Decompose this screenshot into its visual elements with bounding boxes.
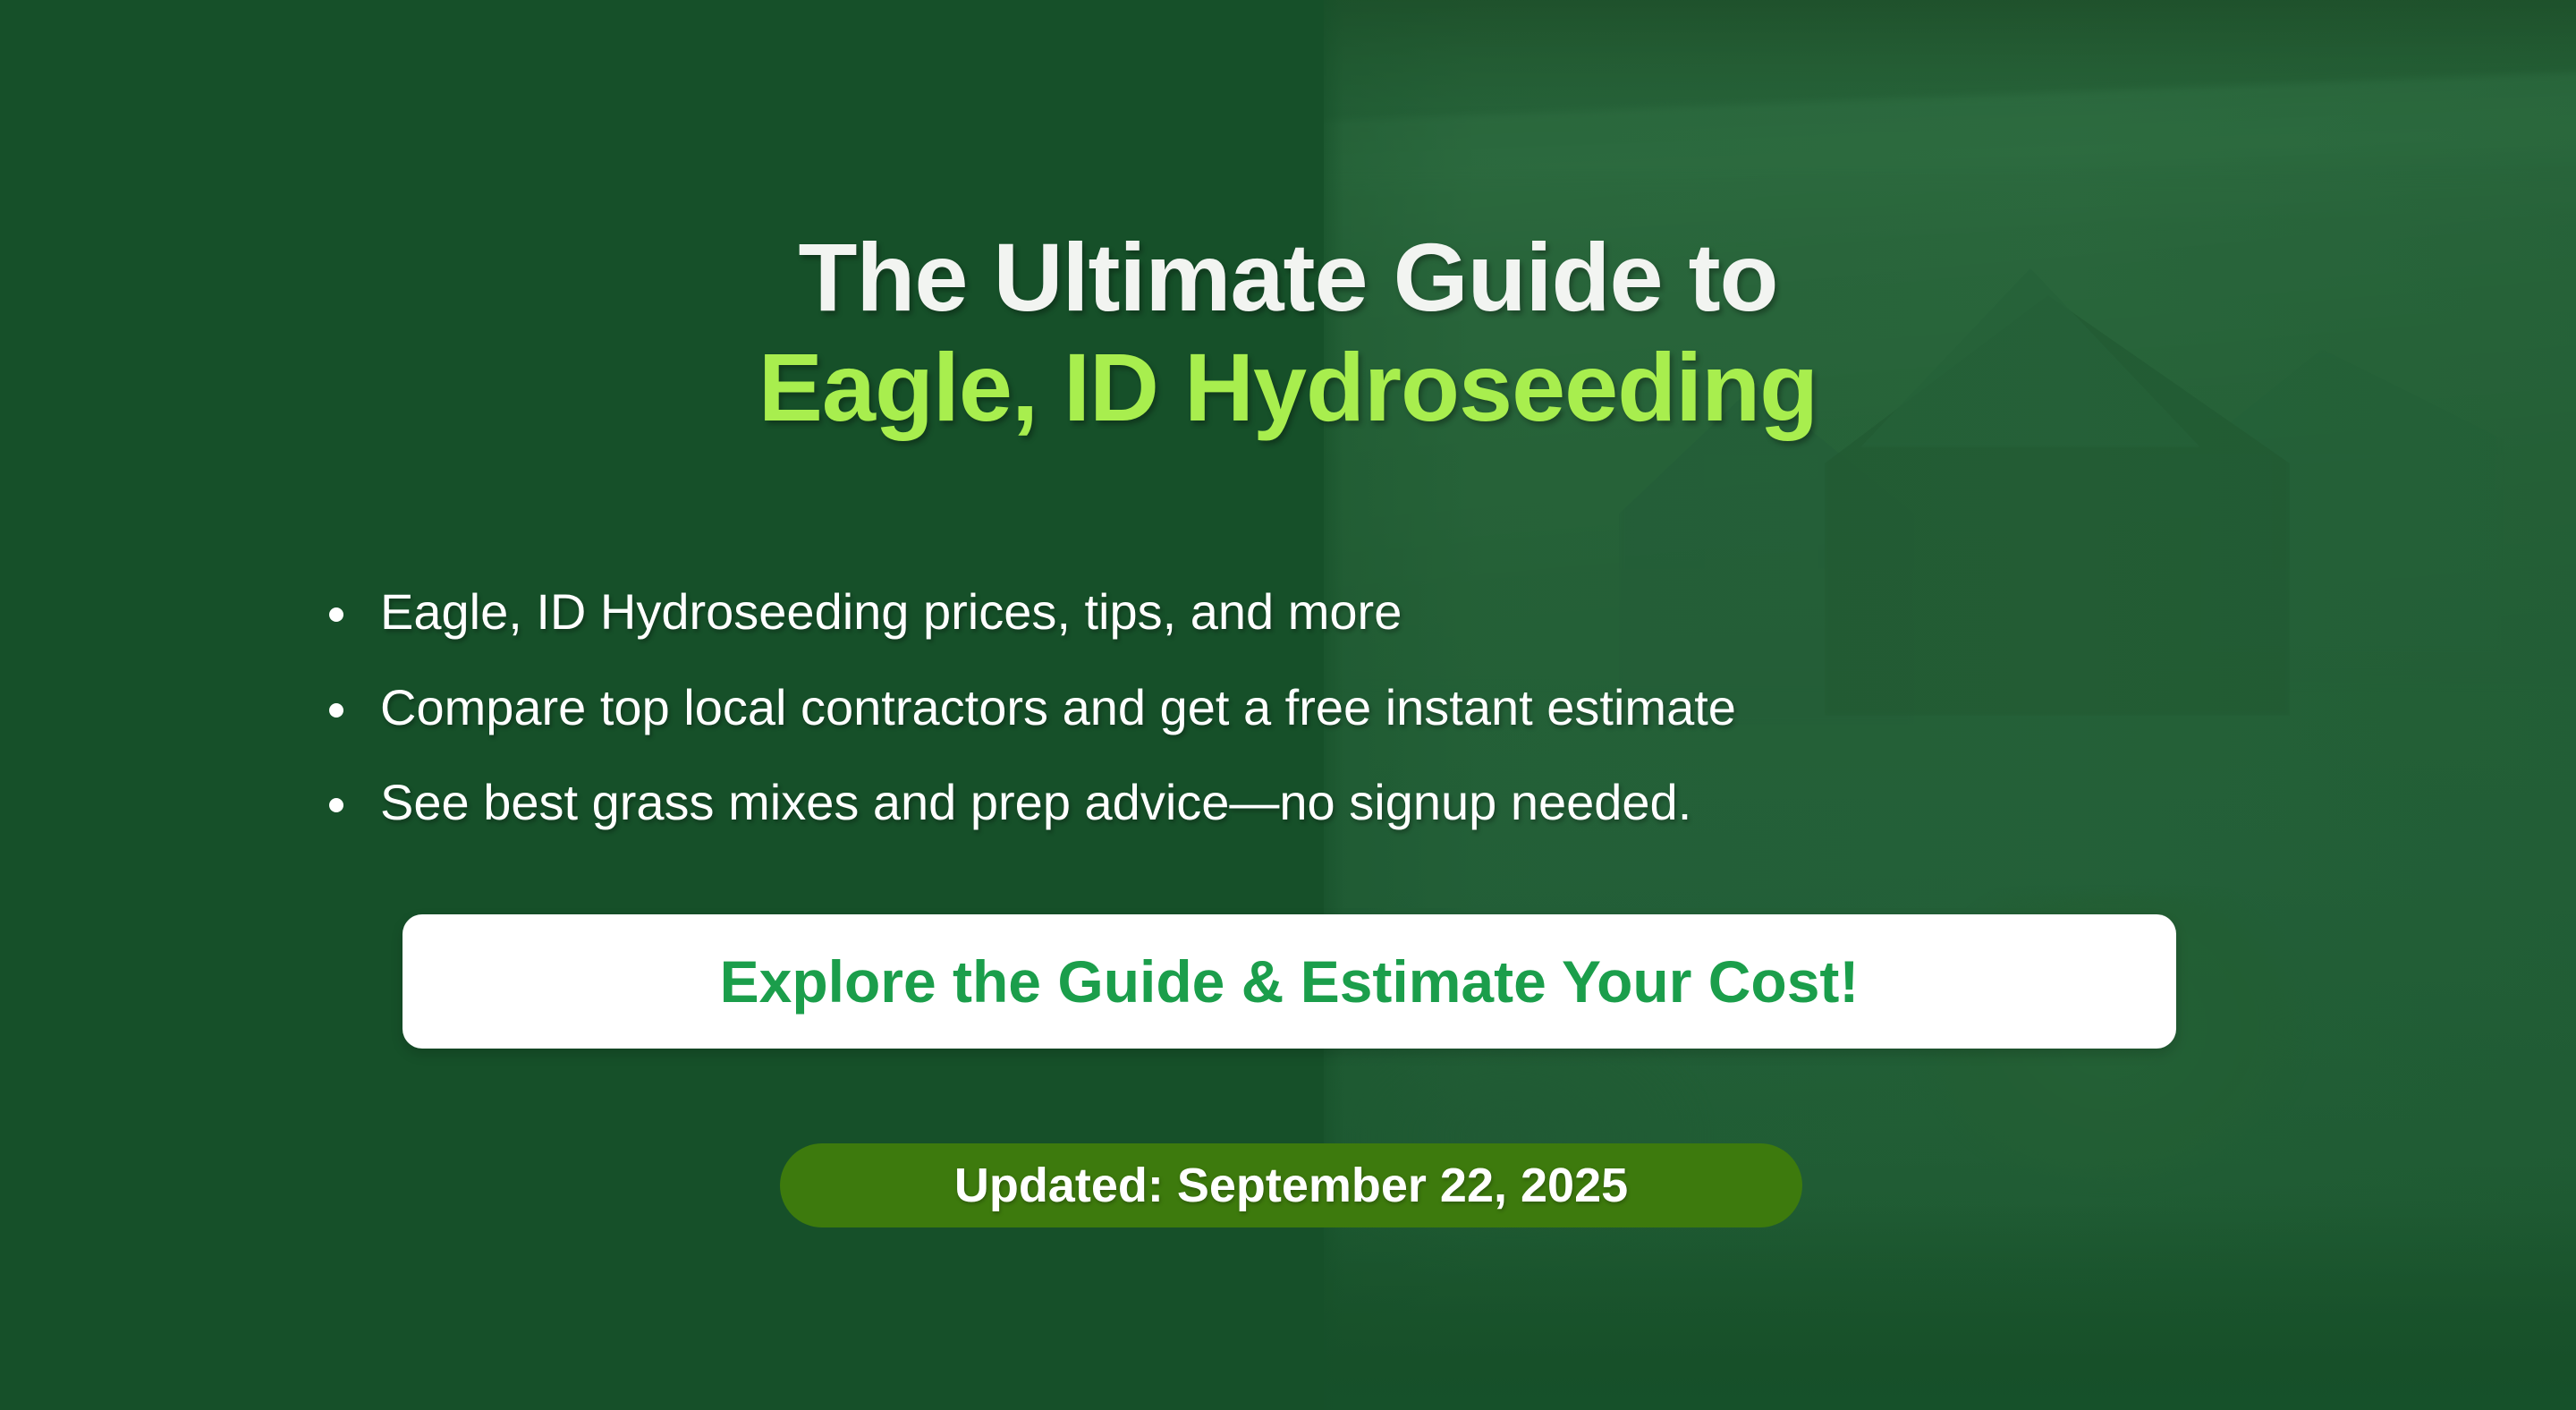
page-title-line-1: The Ultimate Guide to [0, 222, 2576, 332]
updated-date-badge: Updated: September 22, 2025 [780, 1143, 1802, 1227]
list-item: Compare top local contractors and get a … [329, 682, 2297, 735]
page-title: The Ultimate Guide to Eagle, ID Hydrosee… [0, 222, 2576, 442]
feature-bullet-list: Eagle, ID Hydroseeding prices, tips, and… [329, 586, 2297, 872]
list-item-label: See best grass mixes and prep advice—no … [380, 774, 1691, 830]
page-title-line-2: Eagle, ID Hydroseeding [0, 332, 2576, 442]
bullet-dot-icon [329, 703, 343, 718]
list-item: See best grass mixes and prep advice—no … [329, 777, 2297, 829]
hero-banner: The Ultimate Guide to Eagle, ID Hydrosee… [0, 0, 2576, 1410]
banner-content: The Ultimate Guide to Eagle, ID Hydrosee… [0, 0, 2576, 1410]
list-item-label: Eagle, ID Hydroseeding prices, tips, and… [380, 583, 1402, 640]
bullet-dot-icon [329, 798, 343, 812]
bullet-dot-icon [329, 607, 343, 622]
list-item: Eagle, ID Hydroseeding prices, tips, and… [329, 586, 2297, 639]
list-item-label: Compare top local contractors and get a … [380, 679, 1736, 735]
explore-guide-cta-button[interactable]: Explore the Guide & Estimate Your Cost! [402, 914, 2176, 1049]
